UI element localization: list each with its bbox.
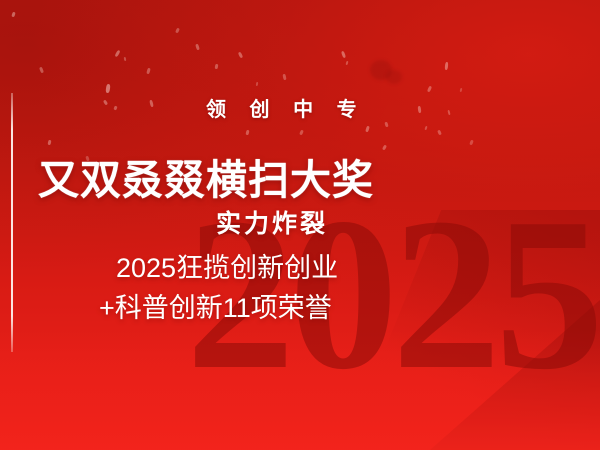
promo-poster: 2025 领 创 中 专 又双叒叕横扫大奖 实力炸裂 2025狂揽创新创业 +科…	[0, 0, 600, 450]
detail-line-2: +科普创新11项荣誉	[99, 286, 332, 325]
poster-content: 领 创 中 专 又双叒叕横扫大奖 实力炸裂 2025狂揽创新创业 +科普创新11…	[0, 0, 600, 450]
brand-eyebrow: 领 创 中 专	[206, 93, 366, 122]
detail-line-1: 2025狂揽创新创业	[116, 246, 338, 285]
subheadline: 实力炸裂	[216, 204, 328, 240]
headline: 又双叒叕横扫大奖	[38, 146, 374, 206]
